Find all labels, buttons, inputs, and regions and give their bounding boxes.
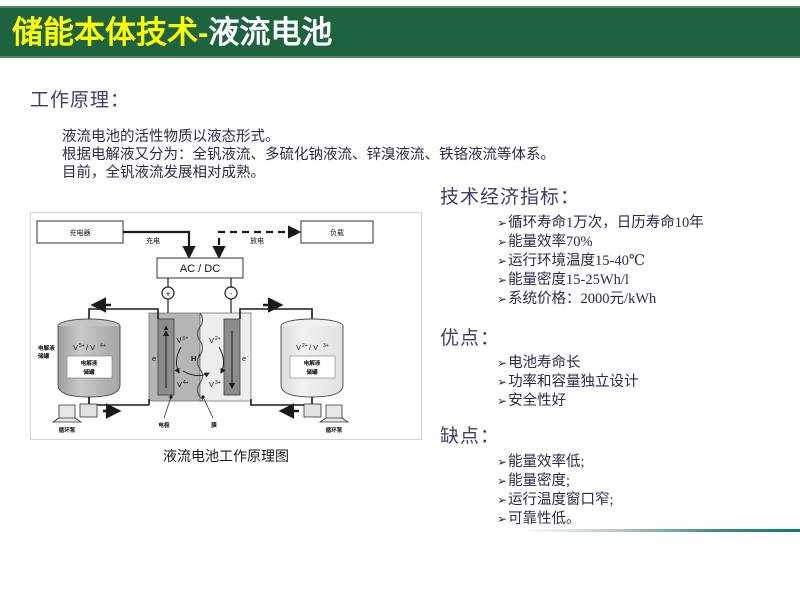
slide-title-bar: 储能本体技术-液流电池 — [0, 6, 800, 58]
diagram-left-tank-inner-label-2: 储罐 — [82, 368, 95, 376]
page-title: 储能本体技术-液流电池 — [0, 17, 332, 48]
footer-divider — [520, 529, 800, 532]
list-item: ➢ 运行环境温度15-40℃ — [497, 252, 704, 271]
diagram-right-tank-species-mid: / V — [309, 343, 318, 352]
diagram-proton-sup: + — [198, 353, 201, 359]
list-item-label: 能量效率低; — [508, 453, 585, 472]
diagram-electron-right: e — [242, 354, 246, 363]
technical-indicators-list: ➢ 循环寿命1万次，日历寿命10年 ➢ 能量效率70% ➢ 运行环境温度15-4… — [497, 214, 704, 309]
list-item-label: 能量密度15-25Wh/l — [508, 271, 629, 290]
diagram-right-tank-inner-label-1: 电解液 — [304, 359, 321, 367]
list-item: ➢ 可靠性低。 — [497, 510, 614, 529]
disadvantages-list: ➢ 能量效率低; ➢ 能量密度; ➢ 运行温度窗口窄; ➢ 可靠性低。 — [497, 453, 614, 529]
bullet-arrow-icon: ➢ — [497, 354, 507, 373]
advantages-list: ➢ 电池寿命长 ➢ 功率和容量独立设计 ➢ 安全性好 — [497, 354, 639, 411]
diagram-left-tank-outer-label-2: 储罐 — [37, 352, 50, 360]
flow-battery-diagram: 充电器 负载 充电 放电 AC / DC + - ▲ — [30, 212, 422, 440]
diagram-left-tank-species-mid: / V — [86, 343, 95, 352]
list-item: ➢ 能量密度; — [497, 472, 614, 491]
page-title-primary: 储能本体技术- — [12, 15, 208, 50]
list-item-label: 系统价格：2000元/kWh — [508, 290, 656, 309]
diagram-positive-terminal-label: + — [165, 290, 171, 298]
list-item: ➢ 电池寿命长 — [497, 354, 639, 373]
list-item: ➢ 系统价格：2000元/kWh — [497, 290, 704, 309]
diagram-cell-ion-v3-sup: 3+ — [215, 380, 221, 386]
working-principle-body: 液流电池的活性物质以液态形式。 根据电解液又分为：全钒液流、多硫化钠液流、锌溴液… — [62, 128, 562, 182]
list-item-label: 可靠性低。 — [508, 510, 581, 529]
diagram-discharge-label: 放电 — [250, 236, 264, 245]
heading-disadvantages: 缺点： — [440, 421, 500, 448]
list-item: ➢ 能量效率70% — [497, 233, 704, 252]
diagram-proton-label: H — [191, 354, 196, 363]
list-item-label: 安全性好 — [508, 392, 566, 411]
list-item-label: 运行温度窗口窄; — [508, 491, 614, 510]
diagram-right-tank-species-sup1: 2+ — [302, 343, 308, 349]
diagram-right-tank-species: V — [296, 343, 301, 352]
diagram-caption: 液流电池工作原理图 — [30, 446, 422, 466]
diagram-load-label: 负载 — [330, 228, 344, 237]
list-item: ➢ 能量密度15-25Wh/l — [497, 271, 704, 290]
list-item: ➢ 功率和容量独立设计 — [497, 373, 639, 392]
list-item-label: 运行环境温度15-40℃ — [508, 252, 645, 271]
diagram-left-tank-inner-label-1: 电解液 — [81, 359, 98, 367]
list-item: ➢ 安全性好 — [497, 392, 639, 411]
diagram-charger-label: 充电器 — [70, 228, 91, 237]
diagram-right-tank-species-sup2: 3+ — [323, 343, 329, 349]
heading-technical-indicators: 技术经济指标： — [440, 182, 580, 209]
heading-advantages: 优点： — [440, 323, 500, 350]
diagram-electrode-label: 电极 — [158, 421, 170, 429]
diagram-left-tank-species: V — [73, 343, 78, 352]
list-item-label: 能量密度; — [508, 472, 570, 491]
list-item-label: 功率和容量独立设计 — [508, 373, 639, 392]
diagram-right-tank-inner-label-2: 储罐 — [305, 368, 318, 376]
bullet-arrow-icon: ➢ — [497, 214, 507, 233]
list-item-label: 电池寿命长 — [508, 354, 581, 373]
principle-line: 目前，全钒液流发展相对成熟。 — [62, 164, 562, 182]
principle-line: 液流电池的活性物质以液态形式。 — [62, 128, 562, 146]
diagram-electron-left: e — [152, 354, 156, 363]
principle-line: 根据电解液又分为：全钒液流、多硫化钠液流、锌溴液流、铁铬液流等体系。 — [62, 146, 562, 164]
diagram-right-pump-icon — [320, 405, 348, 422]
diagram-left-tank-outer-label-1: 电解液 — [38, 344, 55, 352]
diagram-electrode-tip-left: ▲ — [164, 325, 169, 331]
diagram-electrode-leader-dot — [169, 395, 172, 398]
bullet-arrow-icon: ➢ — [497, 510, 507, 529]
diagram-membrane-leader-dot — [201, 395, 204, 398]
diagram-converter-label: AC / DC — [180, 263, 220, 275]
diagram-cell-ion-v2-sup: 2+ — [215, 336, 221, 342]
bullet-arrow-icon: ➢ — [497, 453, 507, 472]
list-item-label: 循环寿命1万次，日历寿命10年 — [508, 214, 704, 233]
page-title-secondary: 液流电池 — [208, 15, 332, 50]
bullet-arrow-icon: ➢ — [497, 290, 507, 309]
diagram-left-tank-species-sup1: 5+ — [79, 343, 85, 349]
diagram-left-tank-species-sup2: 4+ — [100, 343, 106, 349]
diagram-left-pump-valve — [80, 404, 97, 417]
diagram-cell-ion-v2: V — [209, 336, 214, 345]
heading-working-principle: 工作原理： — [30, 85, 130, 112]
diagram-cell-ion-v4-sup: 4+ — [183, 380, 189, 386]
diagram-membrane-label: 膜 — [211, 421, 217, 429]
bullet-arrow-icon: ➢ — [497, 373, 507, 392]
bullet-arrow-icon: ➢ — [497, 392, 507, 411]
diagram-cell-ion-v5-sup: 5+ — [182, 335, 189, 342]
diagram-cell-ion-v4: V — [177, 380, 182, 389]
diagram-charge-label: 充电 — [146, 236, 160, 245]
bullet-arrow-icon: ➢ — [497, 252, 507, 271]
diagram-left-pump-label: 循环泵 — [59, 426, 76, 434]
list-item: ➢ 循环寿命1万次，日历寿命10年 — [497, 214, 704, 233]
list-item-label: 能量效率70% — [508, 233, 593, 252]
diagram-right-pump-label: 循环泵 — [326, 426, 343, 434]
list-item: ➢ 运行温度窗口窄; — [497, 491, 614, 510]
bullet-arrow-icon: ➢ — [497, 491, 507, 510]
bullet-arrow-icon: ➢ — [497, 472, 507, 491]
diagram-right-pump-valve — [304, 404, 321, 417]
bullet-arrow-icon: ➢ — [497, 233, 507, 252]
bullet-arrow-icon: ➢ — [497, 271, 507, 290]
diagram-left-pump-icon — [53, 405, 81, 422]
list-item: ➢ 能量效率低; — [497, 453, 614, 472]
diagram-cell-ion-v3: V — [209, 380, 214, 389]
